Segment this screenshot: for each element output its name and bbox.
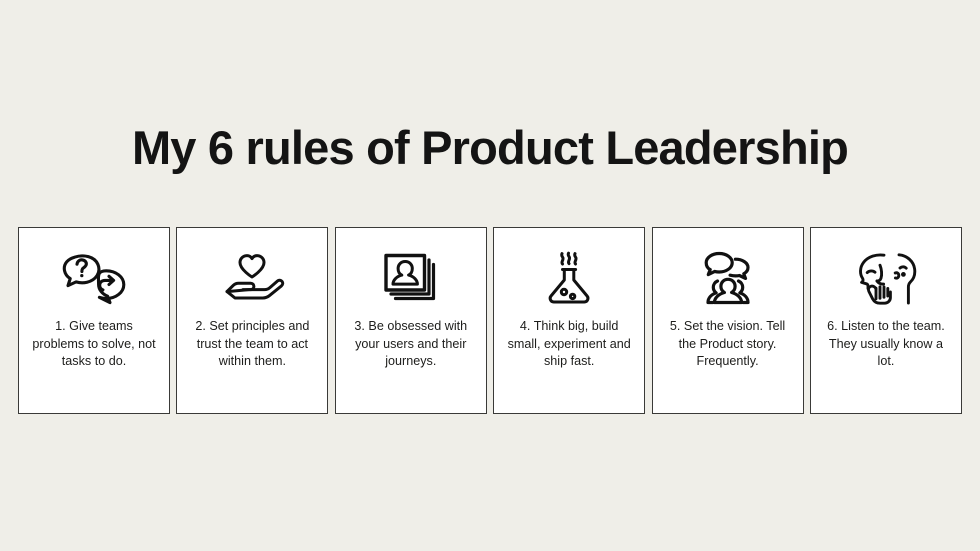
page-title: My 6 rules of Product Leadership xyxy=(0,120,980,175)
rule-card-text: 3. Be obsessed with your users and their… xyxy=(346,318,476,371)
rule-card-text: 2. Set principles and trust the team to … xyxy=(187,318,317,371)
rule-card-text: 1. Give teams problems to solve, not tas… xyxy=(29,318,159,371)
speech-bubbles-question-reply-icon xyxy=(58,250,130,308)
rule-card-3[interactable]: 3. Be obsessed with your users and their… xyxy=(335,227,487,414)
rule-card-text: 5. Set the vision. Tell the Product stor… xyxy=(663,318,793,371)
rule-card-text: 6. Listen to the team. They usually know… xyxy=(821,318,951,371)
group-people-speech-bubbles-icon xyxy=(692,250,764,308)
hand-holding-heart-icon xyxy=(216,250,288,308)
rule-card-4[interactable]: 4. Think big, build small, experiment an… xyxy=(493,227,645,414)
stacked-user-cards-icon xyxy=(375,250,447,308)
rule-card-6[interactable]: 6. Listen to the team. They usually know… xyxy=(810,227,962,414)
rule-card-5[interactable]: 5. Set the vision. Tell the Product stor… xyxy=(652,227,804,414)
rule-card-1[interactable]: 1. Give teams problems to solve, not tas… xyxy=(18,227,170,414)
flask-experiment-icon xyxy=(533,250,605,308)
slide-canvas: My 6 rules of Product Leadership 1. Give… xyxy=(0,0,980,551)
rule-card-text: 4. Think big, build small, experiment an… xyxy=(504,318,634,371)
rule-card-2[interactable]: 2. Set principles and trust the team to … xyxy=(176,227,328,414)
whisper-listen-faces-icon xyxy=(850,250,922,308)
rules-card-row: 1. Give teams problems to solve, not tas… xyxy=(18,227,962,414)
